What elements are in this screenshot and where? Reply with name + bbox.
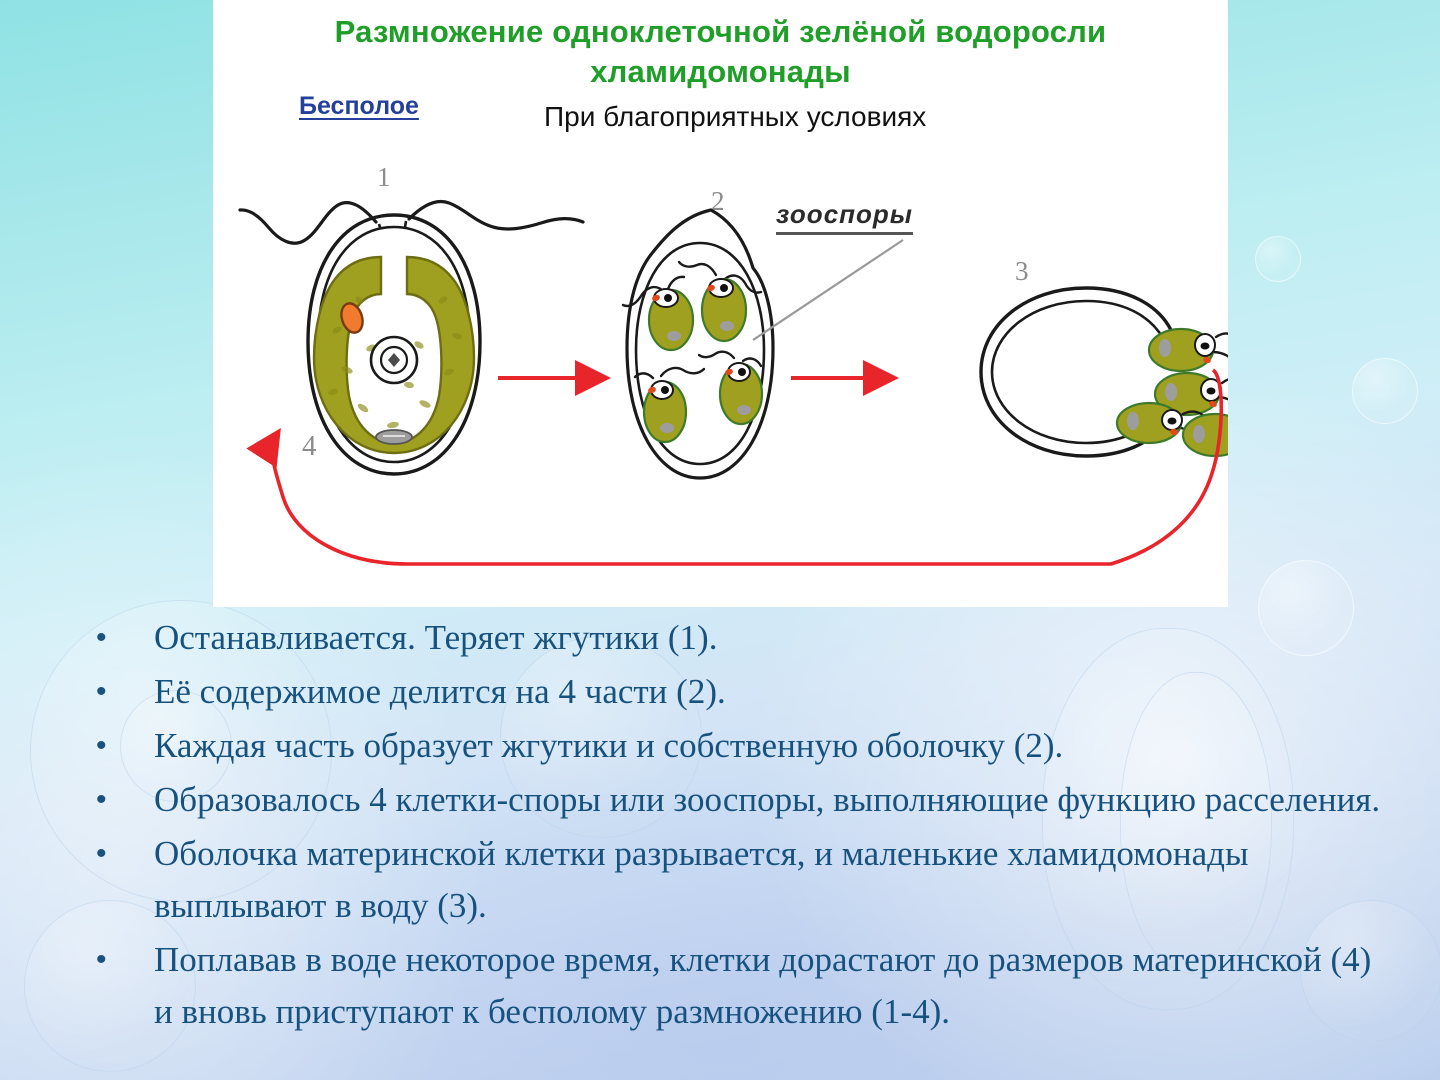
list-item: • Останавливается. Теряет жгутики (1).: [88, 612, 1388, 664]
bullet-marker-icon: •: [88, 720, 154, 772]
zoospores-leader-line: [753, 240, 903, 340]
bullet-text: Оболочка материнской клетки разрывается,…: [154, 828, 1388, 932]
list-item: • Её содержимое делится на 4 части (2).: [88, 666, 1388, 718]
flagellum-left-icon: [240, 203, 376, 244]
stage-2-four-zoospores: [623, 210, 773, 478]
bullet-text: Останавливается. Теряет жгутики (1).: [154, 612, 1388, 664]
bullet-marker-icon: •: [88, 612, 154, 664]
stage-3-released-zoospores: [981, 288, 1228, 457]
bullet-text: Её содержимое делится на 4 части (2).: [154, 666, 1388, 718]
bullet-text: Образовалось 4 клетки-споры или зооспоры…: [154, 774, 1388, 826]
bullet-list: • Останавливается. Теряет жгутики (1). •…: [88, 612, 1388, 1040]
bullet-marker-icon: •: [88, 774, 154, 826]
bullet-marker-icon: •: [88, 666, 154, 718]
bullet-marker-icon: •: [88, 828, 154, 880]
list-item: • Поплавав в воде некоторое время, клетк…: [88, 934, 1388, 1038]
bubble-decoration: [1352, 358, 1418, 424]
stage-1-mother-cell: [240, 201, 583, 474]
list-item: • Каждая часть образует жгутики и собств…: [88, 720, 1388, 772]
bullet-text: Поплавав в воде некоторое время, клетки …: [154, 934, 1388, 1038]
bullet-marker-icon: •: [88, 934, 154, 986]
bullet-text: Каждая часть образует жгутики и собствен…: [154, 720, 1388, 772]
flagellum-right-icon: [409, 201, 583, 229]
slide-root: Размножение одноклеточной зелёной водоро…: [0, 0, 1440, 1080]
bubble-decoration: [1255, 236, 1301, 282]
zoospore: [1149, 329, 1228, 371]
diagram-panel: Размножение одноклеточной зелёной водоро…: [213, 0, 1228, 607]
list-item: • Оболочка материнской клетки разрываетс…: [88, 828, 1388, 932]
list-item: • Образовалось 4 клетки-споры или зооспо…: [88, 774, 1388, 826]
chlamydomonas-lifecycle-diagram: [213, 0, 1228, 607]
